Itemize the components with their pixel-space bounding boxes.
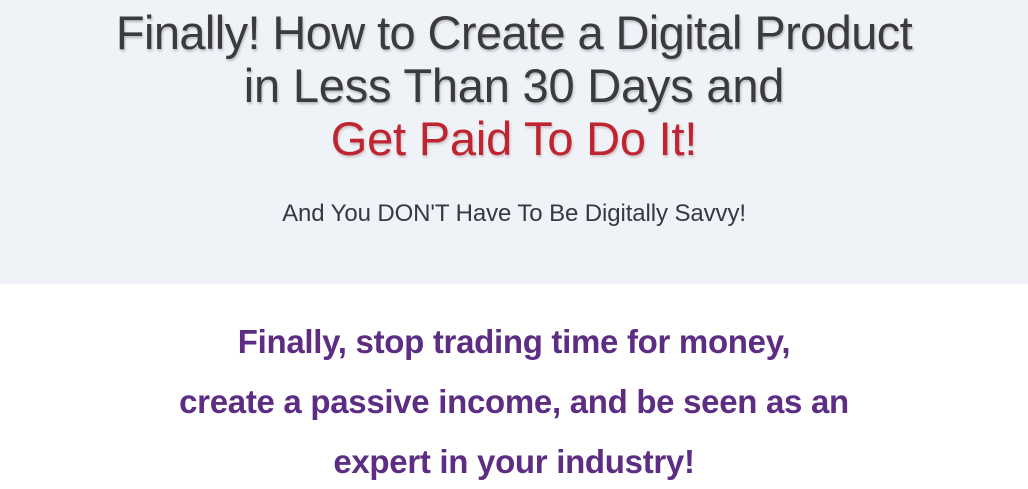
page-subheadline: And You DON'T Have To Be Digitally Savvy… — [8, 165, 1020, 229]
promise-section: Finally, stop trading time for money, cr… — [0, 284, 1028, 489]
promise-line-3: expert in your industry! — [0, 432, 1028, 489]
headline-line-3-highlight: Get Paid To Do It! — [8, 112, 1020, 165]
hero-section: Finally! How to Create a Digital Product… — [0, 0, 1028, 284]
promise-statement: Finally, stop trading time for money, cr… — [0, 312, 1028, 489]
landing-page: Finally! How to Create a Digital Product… — [0, 0, 1028, 489]
promise-line-1: Finally, stop trading time for money, — [0, 312, 1028, 372]
headline-line-2: in Less Than 30 Days and — [8, 59, 1020, 112]
headline-line-1: Finally! How to Create a Digital Product — [8, 6, 1020, 59]
page-headline: Finally! How to Create a Digital Product… — [8, 6, 1020, 165]
promise-line-2: create a passive income, and be seen as … — [0, 372, 1028, 432]
